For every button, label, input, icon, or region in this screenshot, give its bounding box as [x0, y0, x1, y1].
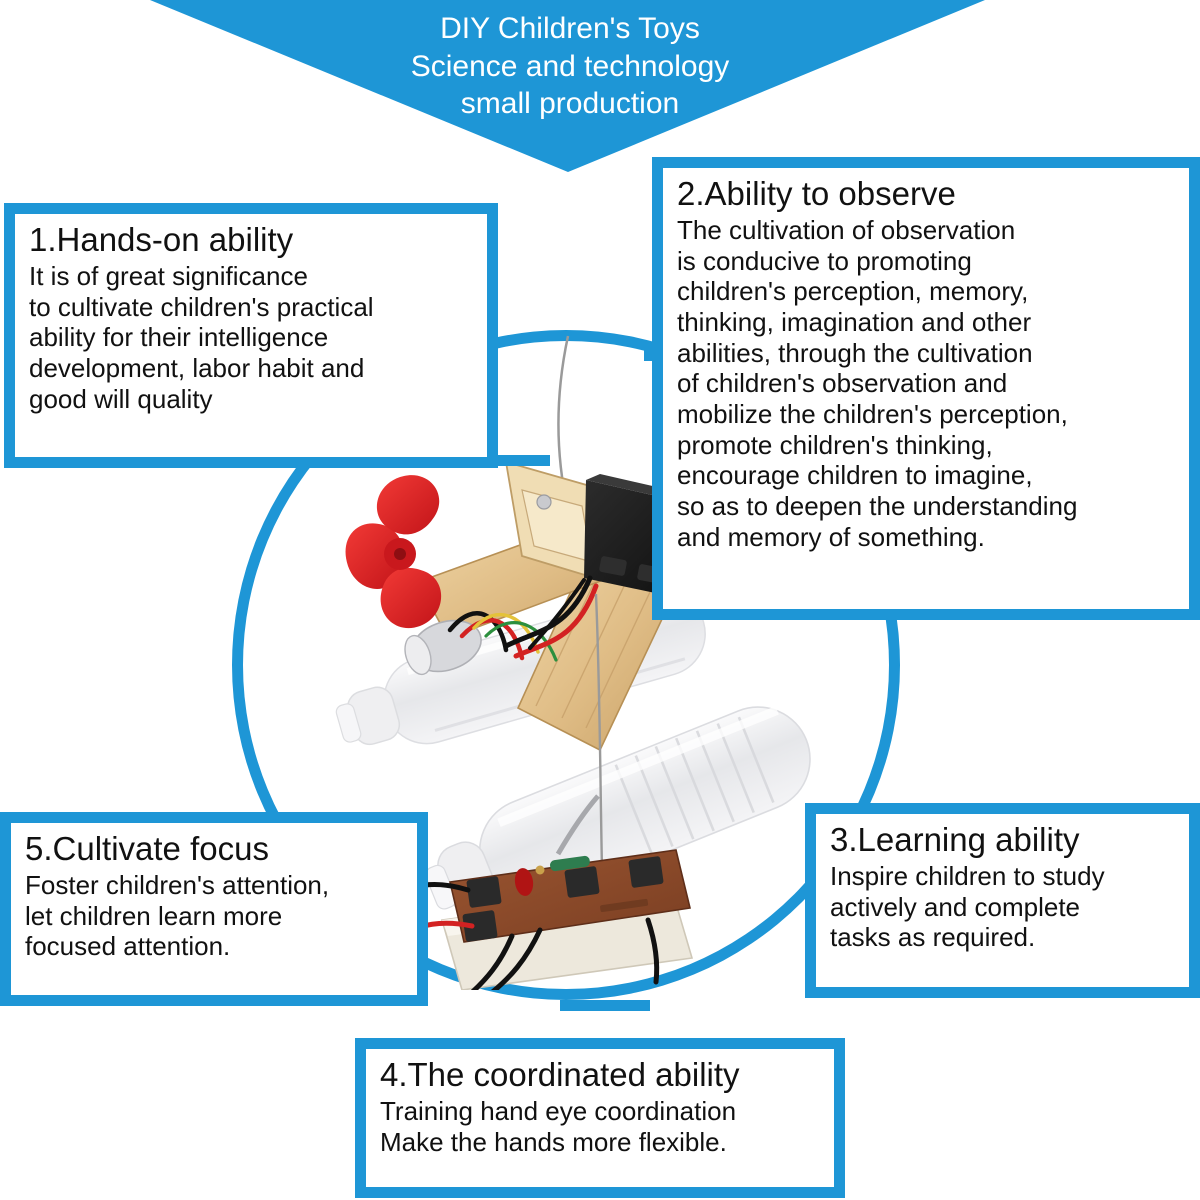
callout-body-line: Training hand eye coordination [380, 1096, 822, 1127]
callout-body-line: The cultivation of observation [677, 215, 1177, 246]
callout-body-line: is conducive to promoting [677, 246, 1177, 277]
callout-body-line: abilities, through the cultivation [677, 338, 1177, 369]
connector-box1 [490, 455, 550, 466]
callout-body-line: promote children's thinking, [677, 430, 1177, 461]
callout-body-line: Inspire children to study [830, 861, 1177, 892]
callout-body-line: mobilize the children's perception, [677, 399, 1177, 430]
callout-body-line: and memory of something. [677, 522, 1177, 553]
callout-title: 5.Cultivate focus [25, 831, 405, 868]
callout-body-line: so as to deepen the understanding [677, 491, 1177, 522]
callout-body: It is of great significance to cultivate… [29, 261, 475, 414]
callout-body: Foster children's attention, let childre… [25, 870, 405, 962]
callout-box-coordinated-ability[interactable]: 4.The coordinated ability Training hand … [355, 1038, 845, 1198]
callout-box-cultivate-focus[interactable]: 5.Cultivate focus Foster children's atte… [0, 812, 428, 1006]
callout-body-line: to cultivate children's practical [29, 292, 475, 323]
callout-body-line: tasks as required. [830, 922, 1177, 953]
callout-body: Training hand eye coordination Make the … [380, 1096, 822, 1157]
callout-body-line: actively and complete [830, 892, 1177, 923]
red-propeller [346, 475, 442, 628]
callout-body-line: good will quality [29, 384, 475, 415]
header-banner [0, 0, 1200, 180]
callout-title: 2.Ability to observe [677, 176, 1177, 213]
callout-body-line: ability for their intelligence [29, 322, 475, 353]
callout-title: 4.The coordinated ability [380, 1057, 822, 1094]
callout-body-line: focused attention. [25, 931, 405, 962]
callout-title: 1.Hands-on ability [29, 222, 475, 259]
callout-box-learning-ability[interactable]: 3.Learning ability Inspire children to s… [805, 803, 1200, 998]
callout-body-line: encourage children to imagine, [677, 460, 1177, 491]
callout-body-line: It is of great significance [29, 261, 475, 292]
callout-box-hands-on-ability[interactable]: 1.Hands-on ability It is of great signif… [4, 203, 498, 468]
infographic-page: DIY Children's Toys Science and technolo… [0, 0, 1200, 1200]
callout-body-line: development, labor habit and [29, 353, 475, 384]
callout-box-ability-to-observe[interactable]: 2.Ability to observe The cultivation of … [652, 157, 1200, 620]
callout-body: The cultivation of observation is conduc… [677, 215, 1177, 552]
callout-body-line: thinking, imagination and other [677, 307, 1177, 338]
callout-body-line: Foster children's attention, [25, 870, 405, 901]
callout-body-line: let children learn more [25, 901, 405, 932]
callout-body-line: Make the hands more flexible. [380, 1127, 822, 1158]
callout-body: Inspire children to study actively and c… [830, 861, 1177, 953]
callout-title: 3.Learning ability [830, 822, 1177, 859]
connector-box4 [560, 1000, 650, 1011]
callout-body-line: children's perception, memory, [677, 276, 1177, 307]
callout-body-line: of children's observation and [677, 368, 1177, 399]
